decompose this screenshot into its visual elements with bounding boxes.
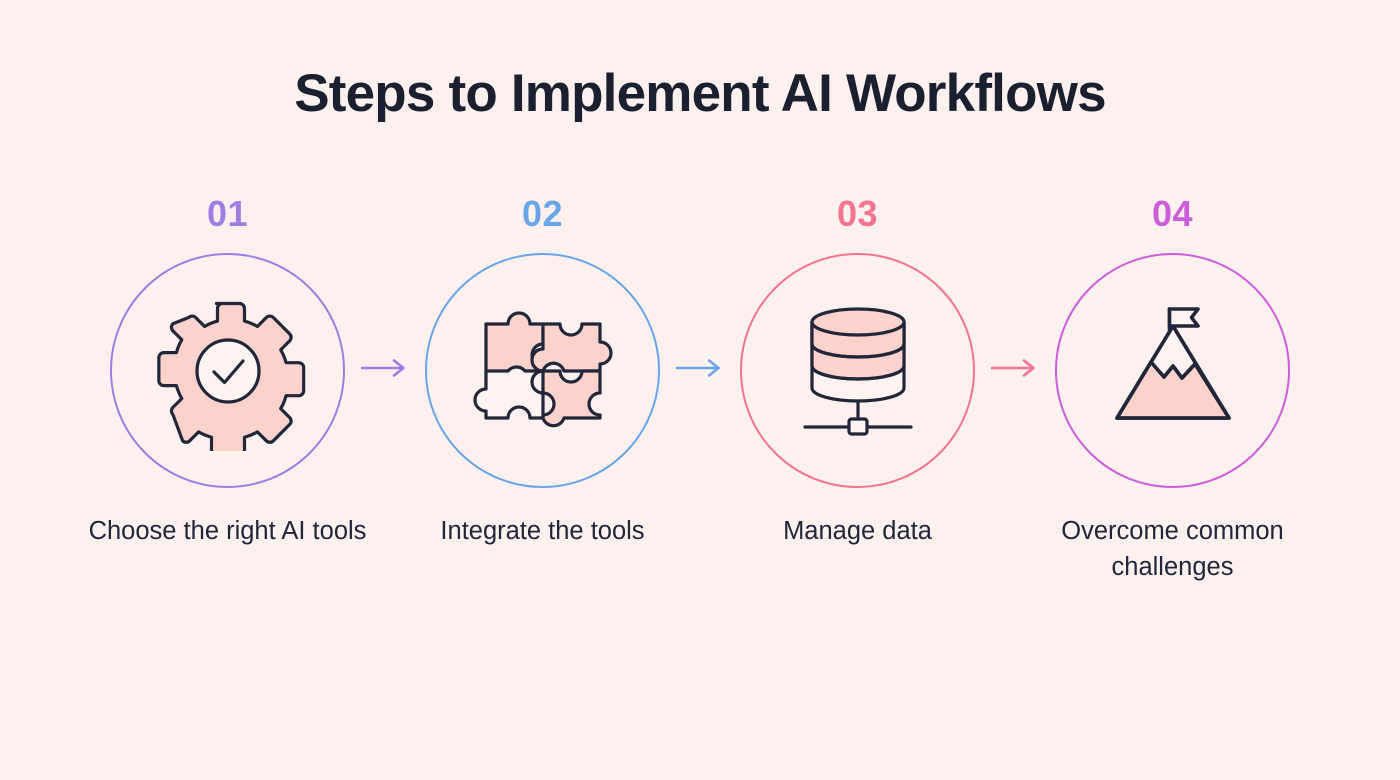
steps-row: 01 Choose the right AI tools [110, 196, 1290, 585]
arrow-2 [676, 358, 724, 378]
step-label-02: Integrate the tools [398, 513, 688, 549]
page-title: Steps to Implement AI Workflows [0, 64, 1400, 125]
database-icon [783, 296, 933, 446]
step-number-03: 03 [837, 196, 878, 232]
step-item-03: 03 [740, 196, 975, 549]
arrow-1 [361, 358, 409, 378]
step-item-04: 04 [1055, 196, 1290, 585]
gear-check-icon [148, 291, 308, 451]
arrow-3 [991, 358, 1039, 378]
step-label-01: Choose the right AI tools [83, 513, 373, 549]
step-number-04: 04 [1152, 196, 1193, 232]
step-circle-01 [110, 253, 345, 488]
mountain-flag-icon [1098, 296, 1248, 446]
step-number-02: 02 [522, 196, 563, 232]
step-item-01: 01 Choose the right AI tools [110, 196, 345, 549]
step-circle-04 [1055, 253, 1290, 488]
infographic-canvas: Steps to Implement AI Workflows 01 Choos… [0, 0, 1400, 780]
step-item-02: 02 [425, 196, 660, 549]
step-label-03: Manage data [713, 513, 1003, 549]
puzzle-pieces-icon [468, 296, 618, 446]
step-circle-03 [740, 253, 975, 488]
step-label-04: Overcome common challenges [1028, 513, 1318, 585]
step-circle-02 [425, 253, 660, 488]
step-number-01: 01 [207, 196, 248, 232]
